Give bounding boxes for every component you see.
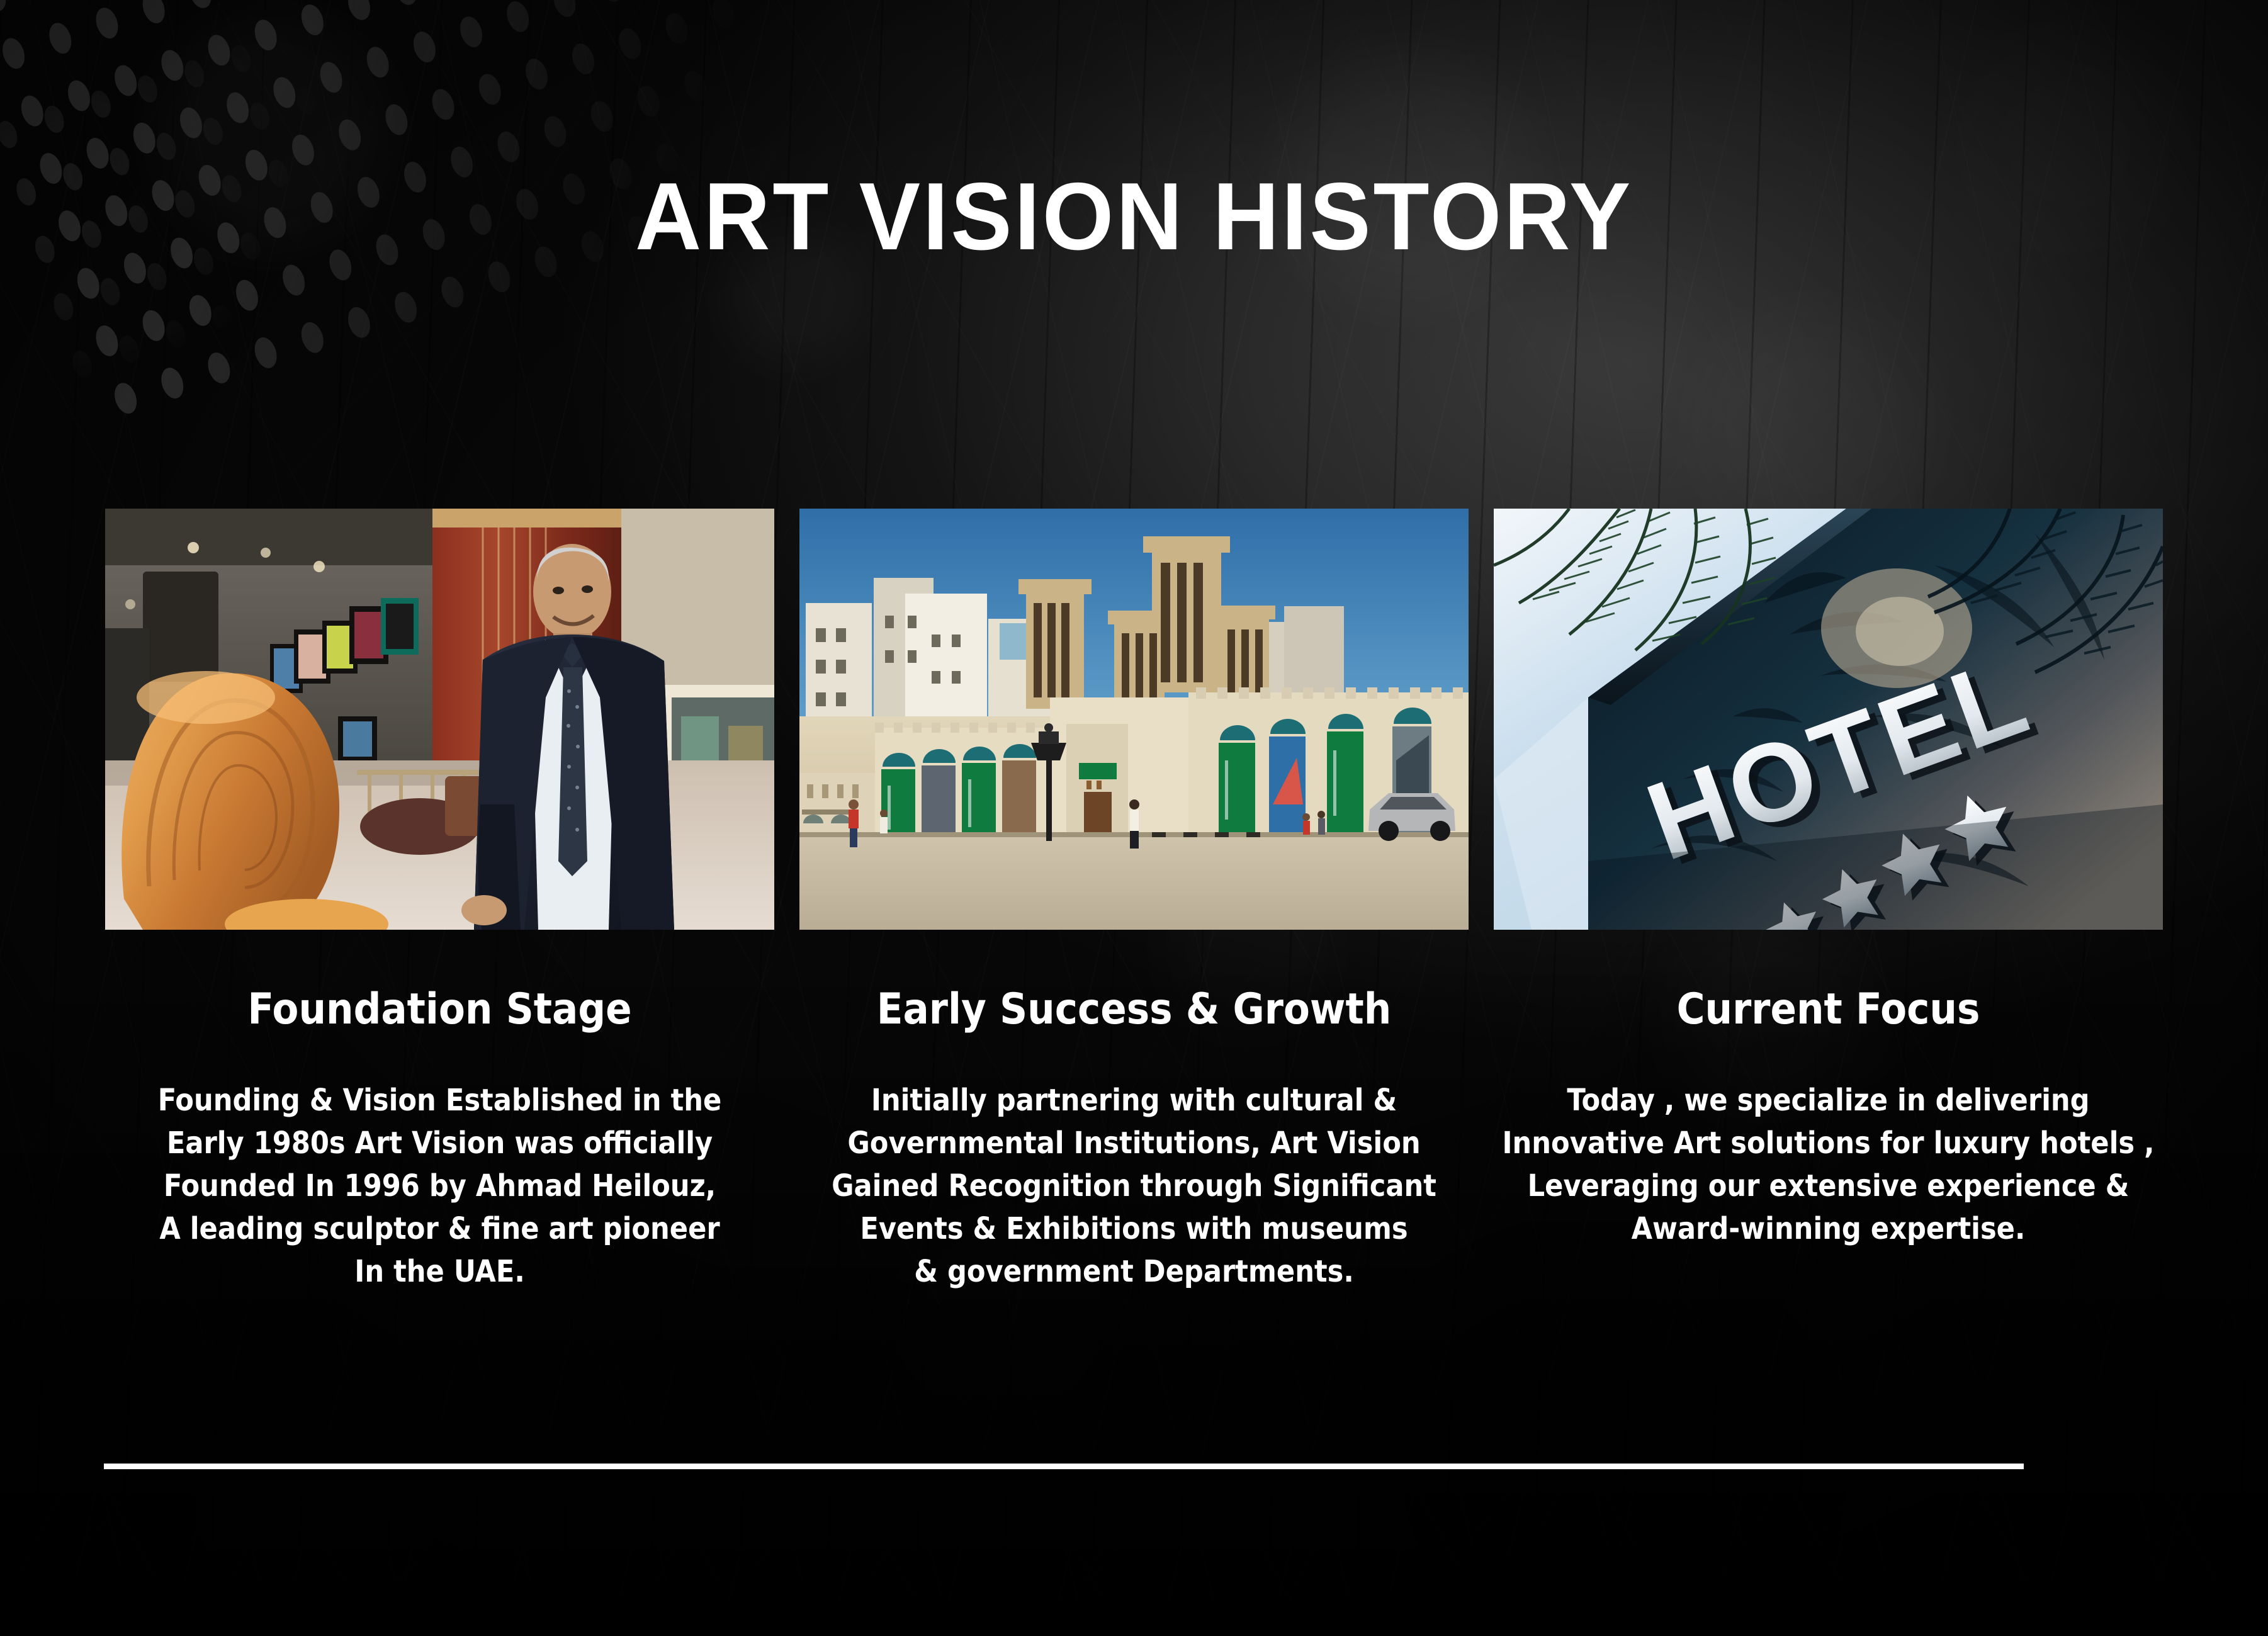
- gallery-interior-illustration: [105, 509, 774, 930]
- column-heading-current-focus: Current Focus: [1494, 986, 2163, 1034]
- museum-building-illustration: [799, 509, 1469, 930]
- hotel-sign-illustration: HOTEL HOTEL: [1494, 509, 2163, 930]
- column-body-early-success-growth: Initially partnering with cultural & Gov…: [799, 1079, 1469, 1294]
- columns-container: Foundation Stage Founding & Vision Estab…: [105, 509, 2162, 1294]
- photo-five-star-hotel-sign: HOTEL HOTEL: [1494, 509, 2163, 930]
- column-early-success-growth: Early Success & Growth Initially partner…: [799, 509, 1469, 1294]
- bottom-divider-rule: [104, 1464, 2024, 1469]
- photo-founder-with-wooden-sculpture: [105, 509, 774, 930]
- column-foundation-stage: Foundation Stage Founding & Vision Estab…: [105, 509, 774, 1294]
- column-heading-early-success-growth: Early Success & Growth: [799, 986, 1469, 1034]
- column-body-foundation-stage: Founding & Vision Established in the Ear…: [105, 1079, 774, 1294]
- slide-canvas: ART VISION HISTORY: [0, 0, 2268, 1636]
- column-body-current-focus: Today , we specialize in delivering Inno…: [1494, 1079, 2163, 1251]
- photo-museum-building-with-wind-towers: [799, 509, 1469, 930]
- page-title: ART VISION HISTORY: [45, 169, 2223, 264]
- column-heading-foundation-stage: Foundation Stage: [105, 986, 774, 1034]
- column-current-focus: HOTEL HOTEL: [1494, 509, 2163, 1294]
